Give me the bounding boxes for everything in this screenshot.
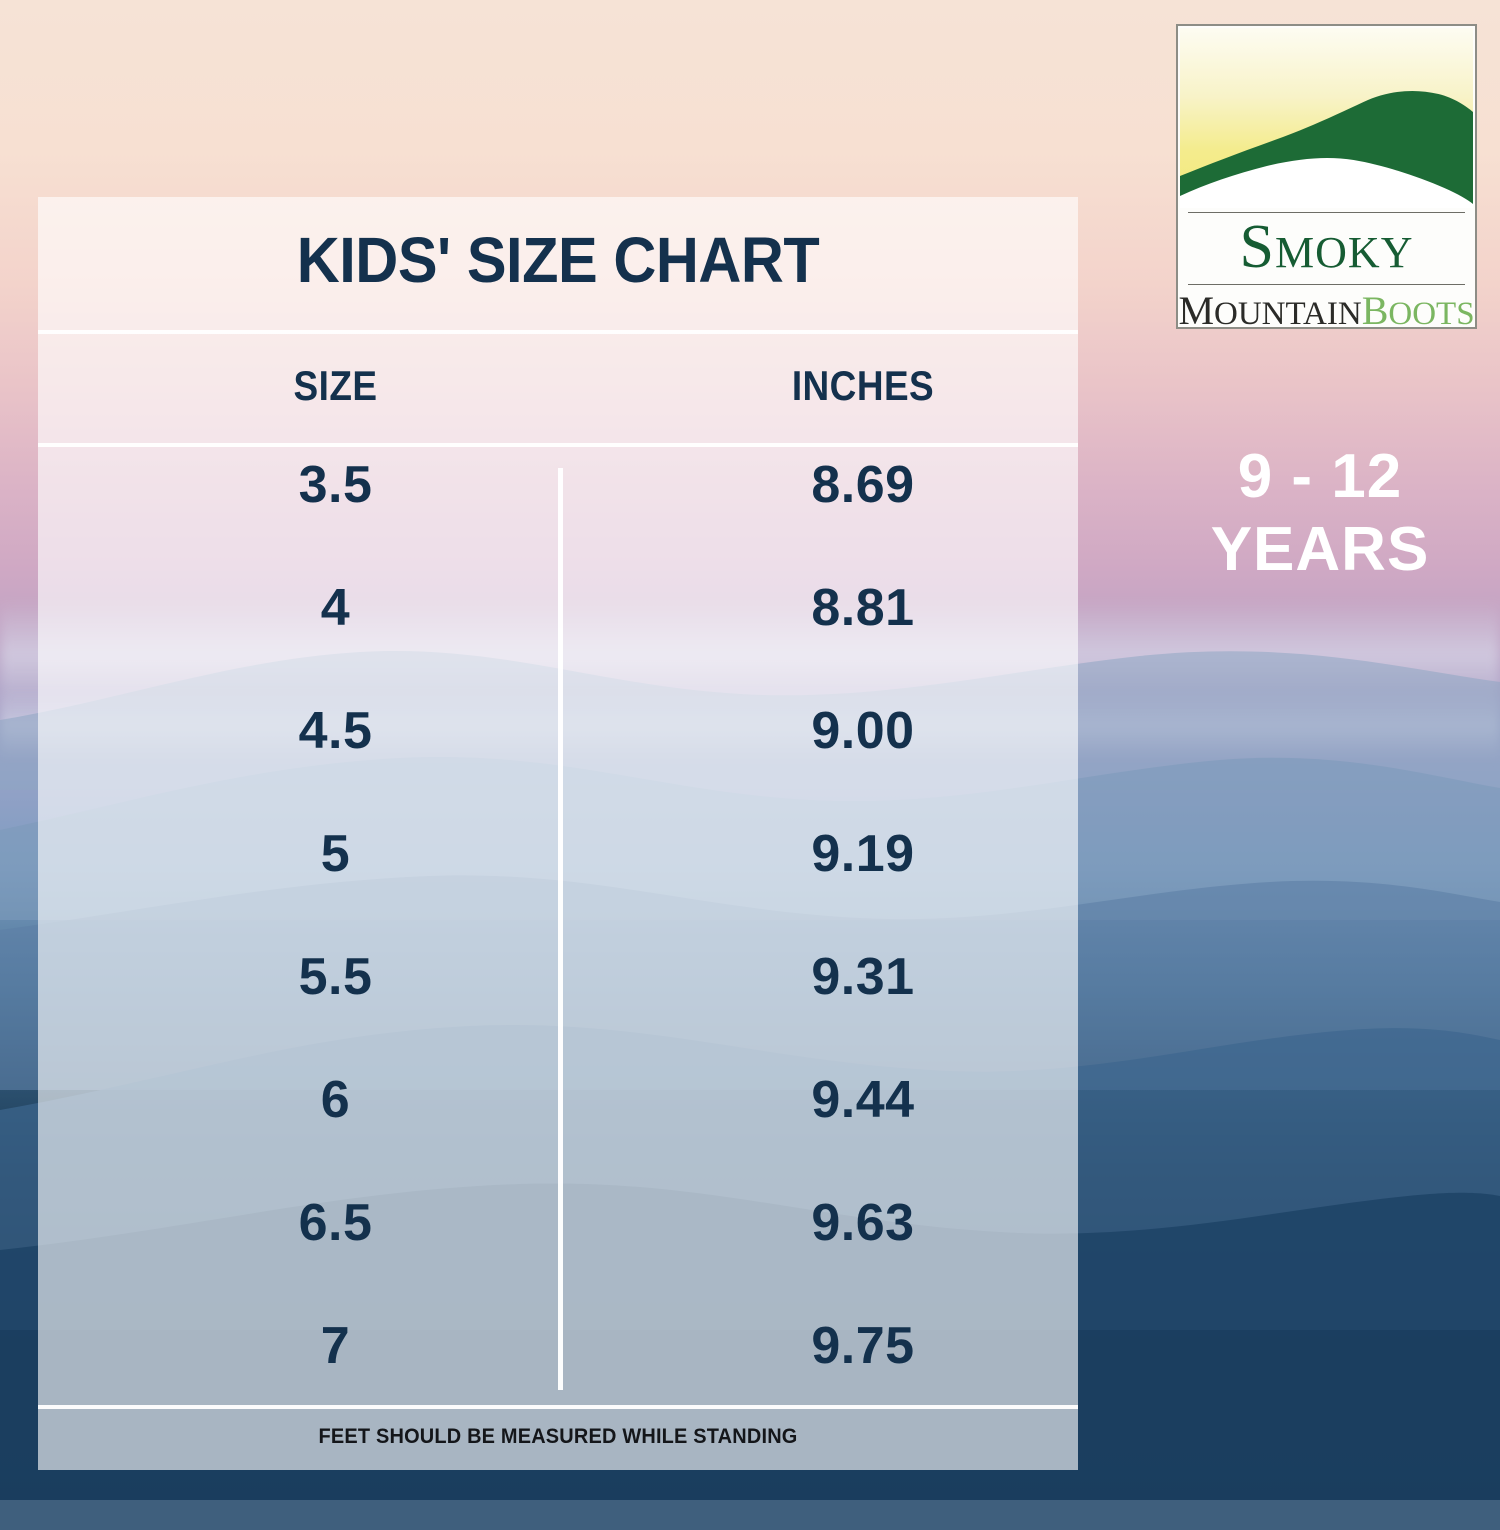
table-row: 5 9.19 bbox=[38, 824, 1078, 947]
cell-inches: 9.75 bbox=[698, 1316, 1028, 1376]
cell-size: 5 bbox=[208, 824, 463, 884]
logo-wordmark-rest: MOKY bbox=[1275, 228, 1413, 277]
table-row: 4 8.81 bbox=[38, 578, 1078, 701]
logo-sub-boots-rest: OOTS bbox=[1388, 296, 1474, 332]
table-row: 5.5 9.31 bbox=[38, 947, 1078, 1070]
rule-above-header bbox=[38, 330, 1078, 334]
cell-size: 6.5 bbox=[208, 1193, 463, 1253]
cell-inches: 9.31 bbox=[698, 947, 1028, 1007]
age-range-unit: YEARS bbox=[1140, 513, 1500, 586]
table-body: 3.5 8.69 4 8.81 4.5 9.00 5 9.19 5.5 9.31… bbox=[38, 455, 1078, 1439]
column-header-size: SIZE bbox=[223, 362, 447, 410]
cell-inches: 8.81 bbox=[698, 578, 1028, 638]
cell-size: 3.5 bbox=[208, 455, 463, 515]
size-chart-panel: KIDS' SIZE CHART SIZE INCHES 3.5 8.69 4 … bbox=[38, 197, 1078, 1470]
logo-rule-bottom bbox=[1188, 284, 1465, 285]
age-range-badge: 9 - 12 YEARS bbox=[1140, 440, 1500, 586]
cell-size: 5.5 bbox=[208, 947, 463, 1007]
brand-logo: SMOKY MOUNTAINBOOTS bbox=[1176, 24, 1477, 329]
table-row: 7 9.75 bbox=[38, 1316, 1078, 1439]
logo-sub-mountain-cap: M bbox=[1178, 288, 1214, 333]
cell-inches: 9.44 bbox=[698, 1070, 1028, 1130]
table-row: 6 9.44 bbox=[38, 1070, 1078, 1193]
table-row: 6.5 9.63 bbox=[38, 1193, 1078, 1316]
column-header-inches: INCHES bbox=[718, 362, 1008, 410]
table-header-row: SIZE INCHES bbox=[38, 340, 1078, 440]
rule-below-header bbox=[38, 443, 1078, 447]
footnote-text: FEET SHOULD BE MEASURED WHILE STANDING bbox=[64, 1425, 1052, 1449]
table-row: 3.5 8.69 bbox=[38, 455, 1078, 578]
page-title: KIDS' SIZE CHART bbox=[74, 223, 1041, 297]
cell-size: 7 bbox=[208, 1316, 463, 1376]
cell-inches: 8.69 bbox=[698, 455, 1028, 515]
logo-wordmark-initial: S bbox=[1240, 213, 1275, 281]
cell-size: 6 bbox=[208, 1070, 463, 1130]
table-row: 4.5 9.00 bbox=[38, 701, 1078, 824]
logo-sub-mountain-rest: OUNTAIN bbox=[1214, 296, 1362, 332]
cell-size: 4.5 bbox=[208, 701, 463, 761]
mountain-sunrise-icon bbox=[1180, 28, 1473, 208]
logo-subtitle: MOUNTAINBOOTS bbox=[1178, 289, 1475, 333]
cell-inches: 9.63 bbox=[698, 1193, 1028, 1253]
cell-inches: 9.19 bbox=[698, 824, 1028, 884]
rule-above-footnote bbox=[38, 1405, 1078, 1409]
age-range-value: 9 - 12 bbox=[1140, 440, 1500, 513]
logo-wordmark: SMOKY bbox=[1178, 216, 1475, 278]
cell-size: 4 bbox=[208, 578, 463, 638]
cell-inches: 9.00 bbox=[698, 701, 1028, 761]
logo-rule-top bbox=[1188, 212, 1465, 213]
logo-sub-boots-cap: B bbox=[1362, 288, 1389, 333]
